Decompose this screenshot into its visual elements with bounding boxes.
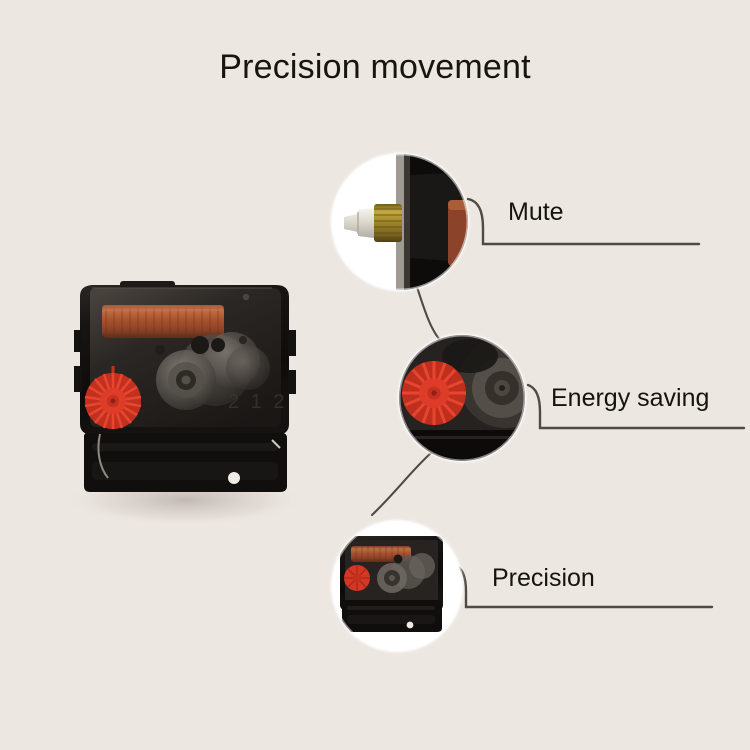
svg-text:2 1 2: 2 1 2 [228, 391, 287, 413]
callout-mute [328, 150, 472, 294]
feature-label-mute: Mute [508, 197, 564, 227]
feature-label-precision: Precision [492, 563, 595, 593]
connector-line-2-3 [372, 452, 432, 515]
product-illustration: 2 1 2 [0, 0, 750, 750]
callout-energy-saving [395, 331, 551, 465]
leader-mute [468, 199, 699, 244]
product-main-photo: 2 1 2 [65, 281, 305, 526]
infographic-canvas: Precision movement [0, 0, 750, 750]
callout-precision [328, 517, 466, 655]
feature-label-energy-saving: Energy saving [551, 383, 709, 413]
